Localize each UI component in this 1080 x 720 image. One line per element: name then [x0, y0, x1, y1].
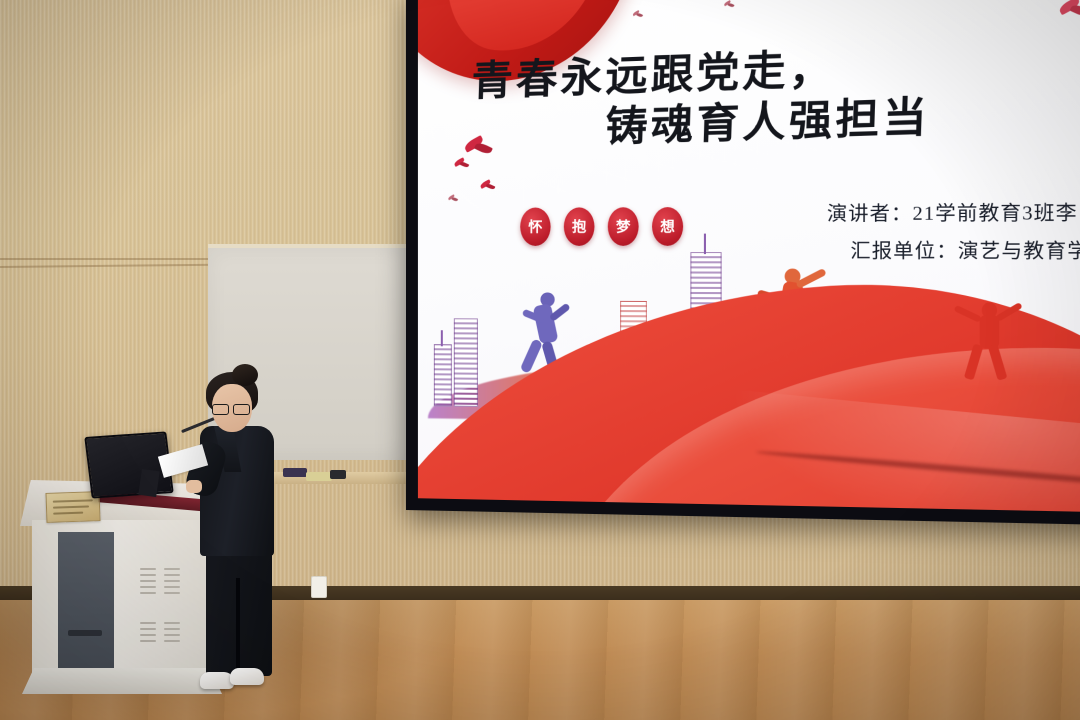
speaker-shoe — [230, 668, 264, 685]
podium-slot — [68, 630, 102, 636]
screen-display: 青春永远跟党走， 铸魂育人强担当 怀 抱 梦 想 演讲者：21学前教育3班李 汇… — [418, 0, 1080, 513]
speaker-hand — [186, 480, 202, 493]
auditorium-scene: 青春永远跟党走， 铸魂育人强担当 怀 抱 梦 想 演讲者：21学前教育3班李 汇… — [0, 0, 1080, 720]
red-silhouette-figure-icon — [960, 302, 1019, 378]
monitor-stand — [138, 469, 159, 497]
ledge-object — [306, 472, 332, 481]
building — [454, 318, 478, 407]
building-spire — [704, 234, 706, 254]
podium-vents — [140, 568, 184, 648]
slide-title: 青春永远跟党走， 铸魂育人强担当 — [472, 41, 1080, 149]
speaker-shoe — [200, 672, 234, 689]
ledge-object — [330, 470, 346, 479]
slogan-badge: 梦 — [608, 207, 639, 246]
slogan-badge: 想 — [652, 207, 683, 246]
slide-canvas: 青春永远跟党走， 铸魂育人强担当 怀 抱 梦 想 演讲者：21学前教育3班李 汇… — [418, 0, 1080, 513]
slogan-badges: 怀 抱 梦 想 — [520, 207, 683, 246]
slide-meta: 演讲者：21学前教育3班李 汇报单位：演艺与教育学 — [827, 195, 1080, 272]
building — [434, 344, 452, 406]
speaker-leg-split — [236, 578, 240, 674]
podium-side-panel — [58, 532, 114, 674]
speaker-hair-bun — [232, 364, 258, 386]
speaker-line: 演讲者：21学前教育3班李 — [827, 195, 1080, 234]
building-spire — [441, 330, 443, 346]
wall-power-outlet[interactable] — [311, 576, 327, 598]
slogan-badge: 抱 — [564, 207, 595, 246]
presentation-screen[interactable]: 青春永远跟党走， 铸魂育人强担当 怀 抱 梦 想 演讲者：21学前教育3班李 汇… — [406, 0, 1080, 525]
slogan-badge: 怀 — [520, 208, 550, 246]
speaker-person — [188, 368, 308, 700]
eyeglasses-icon — [212, 404, 250, 413]
